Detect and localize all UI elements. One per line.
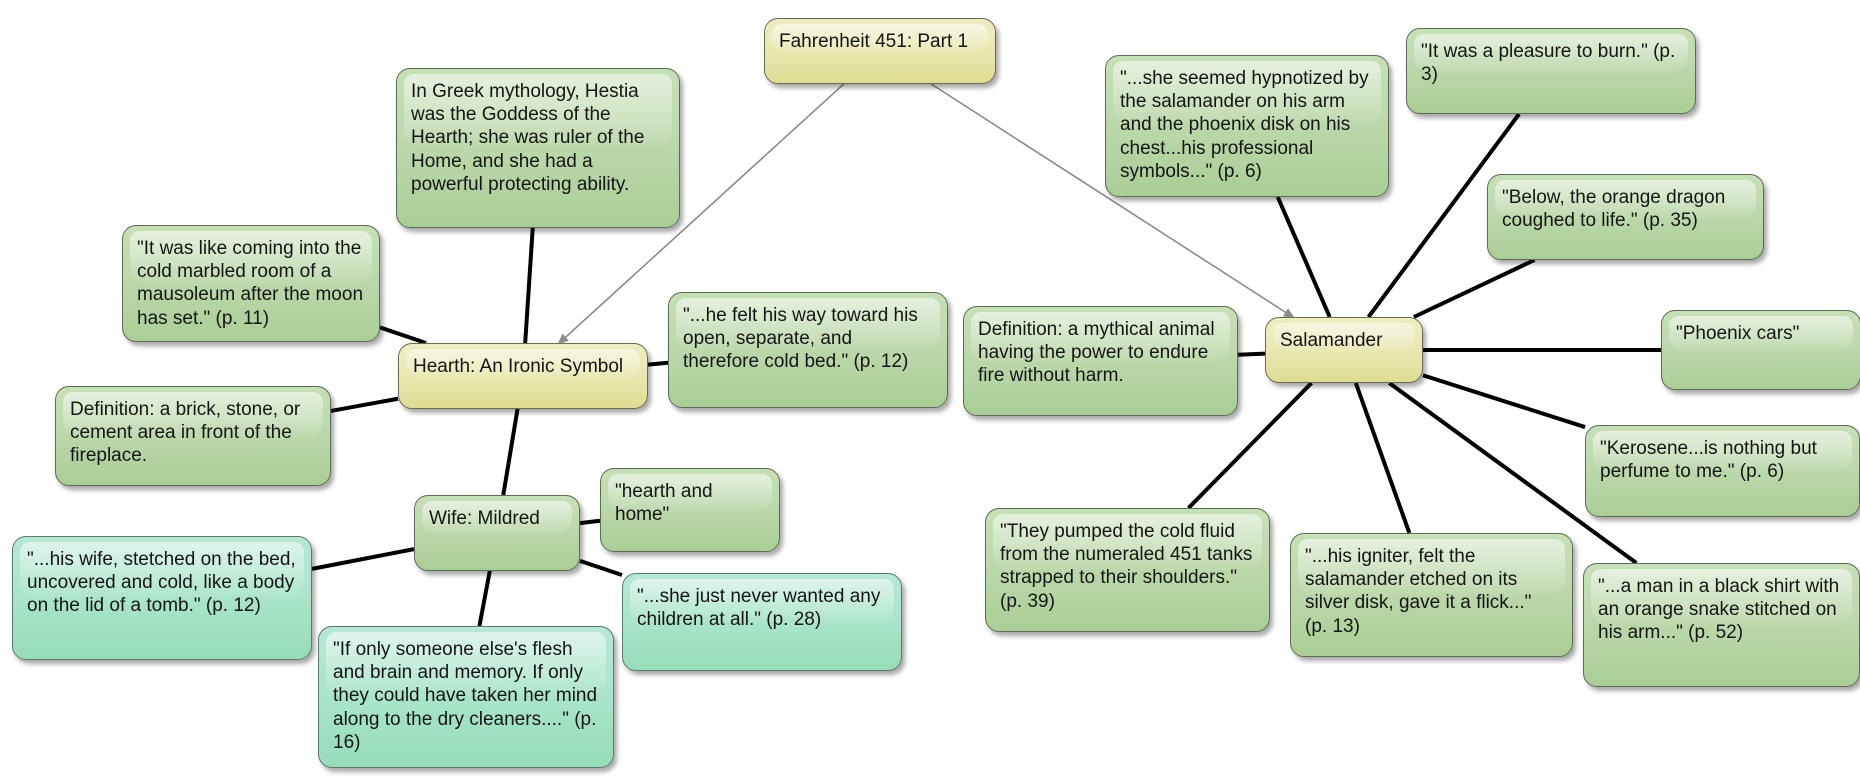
node-label: Fahrenheit 451: Part 1 (779, 30, 981, 53)
node-hearth[interactable]: Hearth: An Ironic Symbol (398, 343, 648, 409)
node-root[interactable]: Fahrenheit 451: Part 1 (764, 18, 996, 84)
node-mildred[interactable]: Wife: Mildred (414, 495, 580, 571)
edge-mildred-to-dry-cleaners (479, 571, 489, 626)
node-label: In Greek mythology, Hestia was the Godde… (411, 80, 665, 196)
edge-mildred-to-hearth-and-home (580, 521, 600, 523)
node-label: "...a man in a black shirt with an orang… (1598, 575, 1845, 645)
node-hestia[interactable]: In Greek mythology, Hestia was the Godde… (396, 68, 680, 228)
node-label: "...his igniter, felt the salamander etc… (1305, 545, 1558, 638)
edge-hearth-to-mausoleum (380, 327, 426, 343)
node-label: "Phoenix cars" (1676, 322, 1846, 345)
node-hypnotized[interactable]: "...she seemed hypnotized by the salaman… (1105, 55, 1389, 197)
edge-hearth-to-hestia (525, 228, 533, 343)
node-label: "...he felt his way toward his open, sep… (683, 304, 933, 374)
edge-salamander-to-hypnotized (1278, 197, 1330, 317)
node-salamander[interactable]: Salamander (1265, 317, 1423, 383)
node-salamander-definition[interactable]: Definition: a mythical animal having the… (963, 306, 1238, 416)
node-igniter[interactable]: "...his igniter, felt the salamander etc… (1290, 533, 1573, 657)
node-hearth-definition[interactable]: Definition: a brick, stone, or cement ar… (55, 386, 331, 486)
node-phoenix-cars[interactable]: "Phoenix cars" (1661, 310, 1860, 390)
node-orange-dragon[interactable]: "Below, the orange dragon coughed to lif… (1487, 174, 1764, 260)
edge-salamander-to-salamander-definition (1238, 354, 1265, 355)
node-label: Definition: a mythical animal having the… (978, 318, 1223, 388)
node-dry-cleaners[interactable]: "If only someone else's flesh and brain … (318, 626, 614, 768)
edge-hearth-to-cold-bed (648, 363, 668, 365)
node-pleasure-to-burn[interactable]: "It was a pleasure to burn." (p. 3) (1406, 28, 1696, 114)
node-label: Salamander (1280, 329, 1408, 352)
node-label: "...his wife, stetched on the bed, uncov… (27, 548, 297, 618)
node-wife-stretched[interactable]: "...his wife, stetched on the bed, uncov… (12, 536, 312, 660)
node-label: "It was a pleasure to burn." (p. 3) (1421, 40, 1681, 86)
node-cold-fluid[interactable]: "They pumped the cold fluid from the num… (985, 508, 1270, 632)
node-cold-bed[interactable]: "...he felt his way toward his open, sep… (668, 292, 948, 408)
edge-hearth-to-mildred (503, 409, 517, 495)
node-label: "...she just never wanted any children a… (637, 585, 887, 631)
edge-salamander-to-kerosene (1423, 375, 1585, 427)
node-label: "If only someone else's flesh and brain … (333, 638, 599, 754)
node-label: "Below, the orange dragon coughed to lif… (1502, 186, 1749, 232)
node-label: "It was like coming into the cold marble… (137, 237, 365, 330)
node-no-children[interactable]: "...she just never wanted any children a… (622, 573, 902, 671)
node-label: "Kerosene...is nothing but perfume to me… (1600, 437, 1845, 483)
node-label: "hearth and home" (615, 480, 765, 526)
edge-salamander-to-igniter (1356, 383, 1410, 533)
edge-salamander-to-orange-dragon (1414, 260, 1535, 317)
edge-mildred-to-no-children (580, 561, 622, 575)
node-label: Hearth: An Ironic Symbol (413, 355, 633, 378)
edge-mildred-to-wife-stretched (312, 549, 414, 569)
mind-map-canvas: Fahrenheit 451: Part 1Hearth: An Ironic … (0, 0, 1860, 780)
node-kerosene[interactable]: "Kerosene...is nothing but perfume to me… (1585, 425, 1860, 517)
node-hearth-and-home[interactable]: "hearth and home" (600, 468, 780, 552)
edge-hearth-to-hearth-definition (331, 399, 398, 411)
node-black-shirt[interactable]: "...a man in a black shirt with an orang… (1583, 563, 1860, 687)
node-label: Wife: Mildred (429, 507, 565, 530)
node-mausoleum[interactable]: "It was like coming into the cold marble… (122, 225, 380, 342)
node-label: "...she seemed hypnotized by the salaman… (1120, 67, 1374, 183)
node-label: Definition: a brick, stone, or cement ar… (70, 398, 316, 468)
node-label: "They pumped the cold fluid from the num… (1000, 520, 1255, 613)
